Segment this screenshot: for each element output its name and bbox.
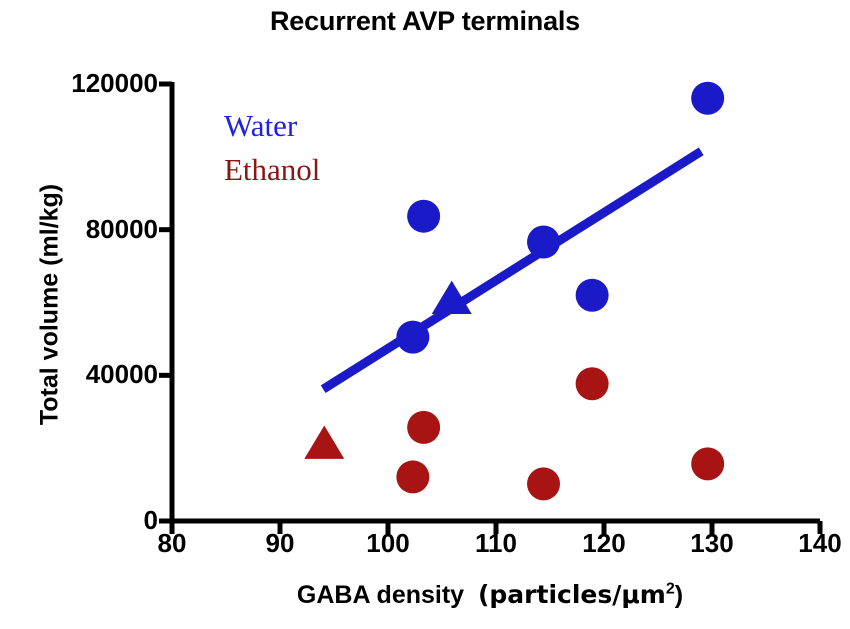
data-point-water-4 (691, 82, 724, 115)
data-point-ethanol-1 (396, 460, 429, 493)
chart-figure: Recurrent AVP terminals Total volume (ml… (0, 0, 850, 629)
data-markers (304, 82, 724, 501)
data-point-ethanol-2 (527, 467, 560, 500)
data-point-ethanol-4 (691, 447, 724, 480)
trendline (323, 151, 701, 389)
data-point-water-1 (396, 321, 429, 354)
mean-marker-ethanol (304, 426, 344, 459)
data-point-water-2 (527, 226, 560, 259)
data-point-ethanol-0 (407, 411, 440, 444)
plot-area (0, 0, 850, 629)
data-point-ethanol-3 (576, 367, 609, 400)
data-point-water-3 (576, 279, 609, 312)
trendline-water (323, 151, 701, 389)
data-point-water-0 (407, 200, 440, 233)
